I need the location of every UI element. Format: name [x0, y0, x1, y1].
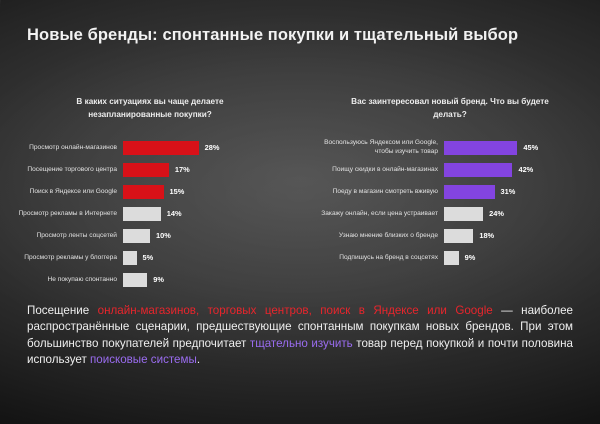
- bar-fill: [444, 185, 495, 199]
- bar-rows-left: Просмотр онлайн-магазинов28%Посещение то…: [0, 138, 300, 292]
- conclusion-paragraph: Посещение онлайн-магазинов, торговых цен…: [27, 303, 573, 369]
- bar-value-label: 31%: [501, 187, 516, 196]
- bar-label: Просмотр онлайн-магазинов: [0, 144, 123, 153]
- bar-value-label: 24%: [489, 209, 504, 218]
- bar-row: Подпишусь на бренд в соцсетях9%: [300, 248, 600, 267]
- bar-row: Просмотр рекламы у блоггера5%: [0, 248, 300, 267]
- bar-fill: [123, 163, 169, 177]
- bar-fill: [123, 185, 164, 199]
- bar-track: 18%: [444, 229, 600, 243]
- bar-rows-right: Воспользуюсь Яндексом или Google, чтобы …: [300, 138, 600, 270]
- charts-container: В каких ситуациях вы чаще делаете незапл…: [0, 96, 600, 292]
- bar-row: Узнаю мнение близких о бренде18%: [300, 226, 600, 245]
- bar-fill: [123, 273, 147, 287]
- chart-panel-left: В каких ситуациях вы чаще делаете незапл…: [0, 96, 300, 292]
- bar-value-label: 42%: [518, 165, 533, 174]
- bar-fill: [123, 141, 199, 155]
- bar-label: Не покупаю спонтанно: [0, 276, 123, 285]
- bar-track: 24%: [444, 207, 600, 221]
- bar-row: Поищу скидки в онлайн-магазинах42%: [300, 160, 600, 179]
- page-title: Новые бренды: спонтанные покупки и тщате…: [27, 26, 576, 45]
- bar-fill: [123, 251, 137, 265]
- bar-row: Не покупаю спонтанно9%: [0, 270, 300, 289]
- bar-value-label: 17%: [175, 165, 190, 174]
- chart-title-right: Вас заинтересовал новый бренд. Что вы бу…: [335, 96, 565, 121]
- bar-fill: [444, 141, 517, 155]
- bar-row: Воспользуюсь Яндексом или Google, чтобы …: [300, 138, 600, 157]
- bar-fill: [444, 163, 512, 177]
- bar-track: 15%: [123, 185, 300, 199]
- bar-value-label: 5%: [143, 253, 154, 262]
- bar-track: 42%: [444, 163, 600, 177]
- conclusion-highlight-search: поисковые системы: [90, 353, 197, 366]
- bar-label: Закажу онлайн, если цена устраивает: [300, 210, 444, 219]
- bar-track: 28%: [123, 141, 300, 155]
- chart-title-left: В каких ситуациях вы чаще делаете незапл…: [35, 96, 265, 121]
- bar-fill: [444, 229, 473, 243]
- bar-fill: [444, 207, 483, 221]
- bar-row: Закажу онлайн, если цена устраивает24%: [300, 204, 600, 223]
- bar-row: Поиск в Яндексе или Google15%: [0, 182, 300, 201]
- bar-label: Просмотр рекламы в Интернете: [0, 210, 123, 219]
- bar-label: Просмотр ленты соцсетей: [0, 232, 123, 241]
- bar-value-label: 45%: [523, 143, 538, 152]
- conclusion-highlight-channels: онлайн-магазинов, торговых центров, поис…: [98, 304, 493, 317]
- bar-label: Воспользуюсь Яндексом или Google, чтобы …: [300, 139, 444, 156]
- bar-track: 9%: [444, 251, 600, 265]
- bar-label: Подпишусь на бренд в соцсетях: [300, 254, 444, 263]
- bar-track: 14%: [123, 207, 300, 221]
- bar-label: Поищу скидки в онлайн-магазинах: [300, 166, 444, 175]
- bar-value-label: 18%: [479, 231, 494, 240]
- bar-fill: [444, 251, 459, 265]
- bar-value-label: 9%: [153, 275, 164, 284]
- chart-panel-right: Вас заинтересовал новый бренд. Что вы бу…: [300, 96, 600, 292]
- bar-track: 45%: [444, 141, 600, 155]
- bar-track: 17%: [123, 163, 300, 177]
- conclusion-highlight-research: тщательно изучить: [250, 337, 353, 350]
- bar-fill: [123, 207, 161, 221]
- bar-track: 10%: [123, 229, 300, 243]
- bar-label: Поиск в Яндексе или Google: [0, 188, 123, 197]
- bar-label: Просмотр рекламы у блоггера: [0, 254, 123, 263]
- bar-value-label: 9%: [465, 253, 476, 262]
- bar-fill: [123, 229, 150, 243]
- bar-row: Просмотр онлайн-магазинов28%: [0, 138, 300, 157]
- bar-label: Посещение торгового центра: [0, 166, 123, 175]
- bar-track: 31%: [444, 185, 600, 199]
- bar-row: Посещение торгового центра17%: [0, 160, 300, 179]
- bar-label: Поеду в магазин смотреть вживую: [300, 188, 444, 197]
- conclusion-text-1: Посещение: [27, 304, 98, 317]
- bar-row: Поеду в магазин смотреть вживую31%: [300, 182, 600, 201]
- bar-row: Просмотр ленты соцсетей10%: [0, 226, 300, 245]
- bar-track: 5%: [123, 251, 300, 265]
- conclusion-text-4: .: [197, 353, 200, 366]
- bar-value-label: 15%: [170, 187, 185, 196]
- bar-value-label: 10%: [156, 231, 171, 240]
- bar-row: Просмотр рекламы в Интернете14%: [0, 204, 300, 223]
- slide-root: Новые бренды: спонтанные покупки и тщате…: [0, 0, 600, 424]
- bar-track: 9%: [123, 273, 300, 287]
- bar-value-label: 28%: [205, 143, 220, 152]
- bar-value-label: 14%: [167, 209, 182, 218]
- bar-label: Узнаю мнение близких о бренде: [300, 232, 444, 241]
